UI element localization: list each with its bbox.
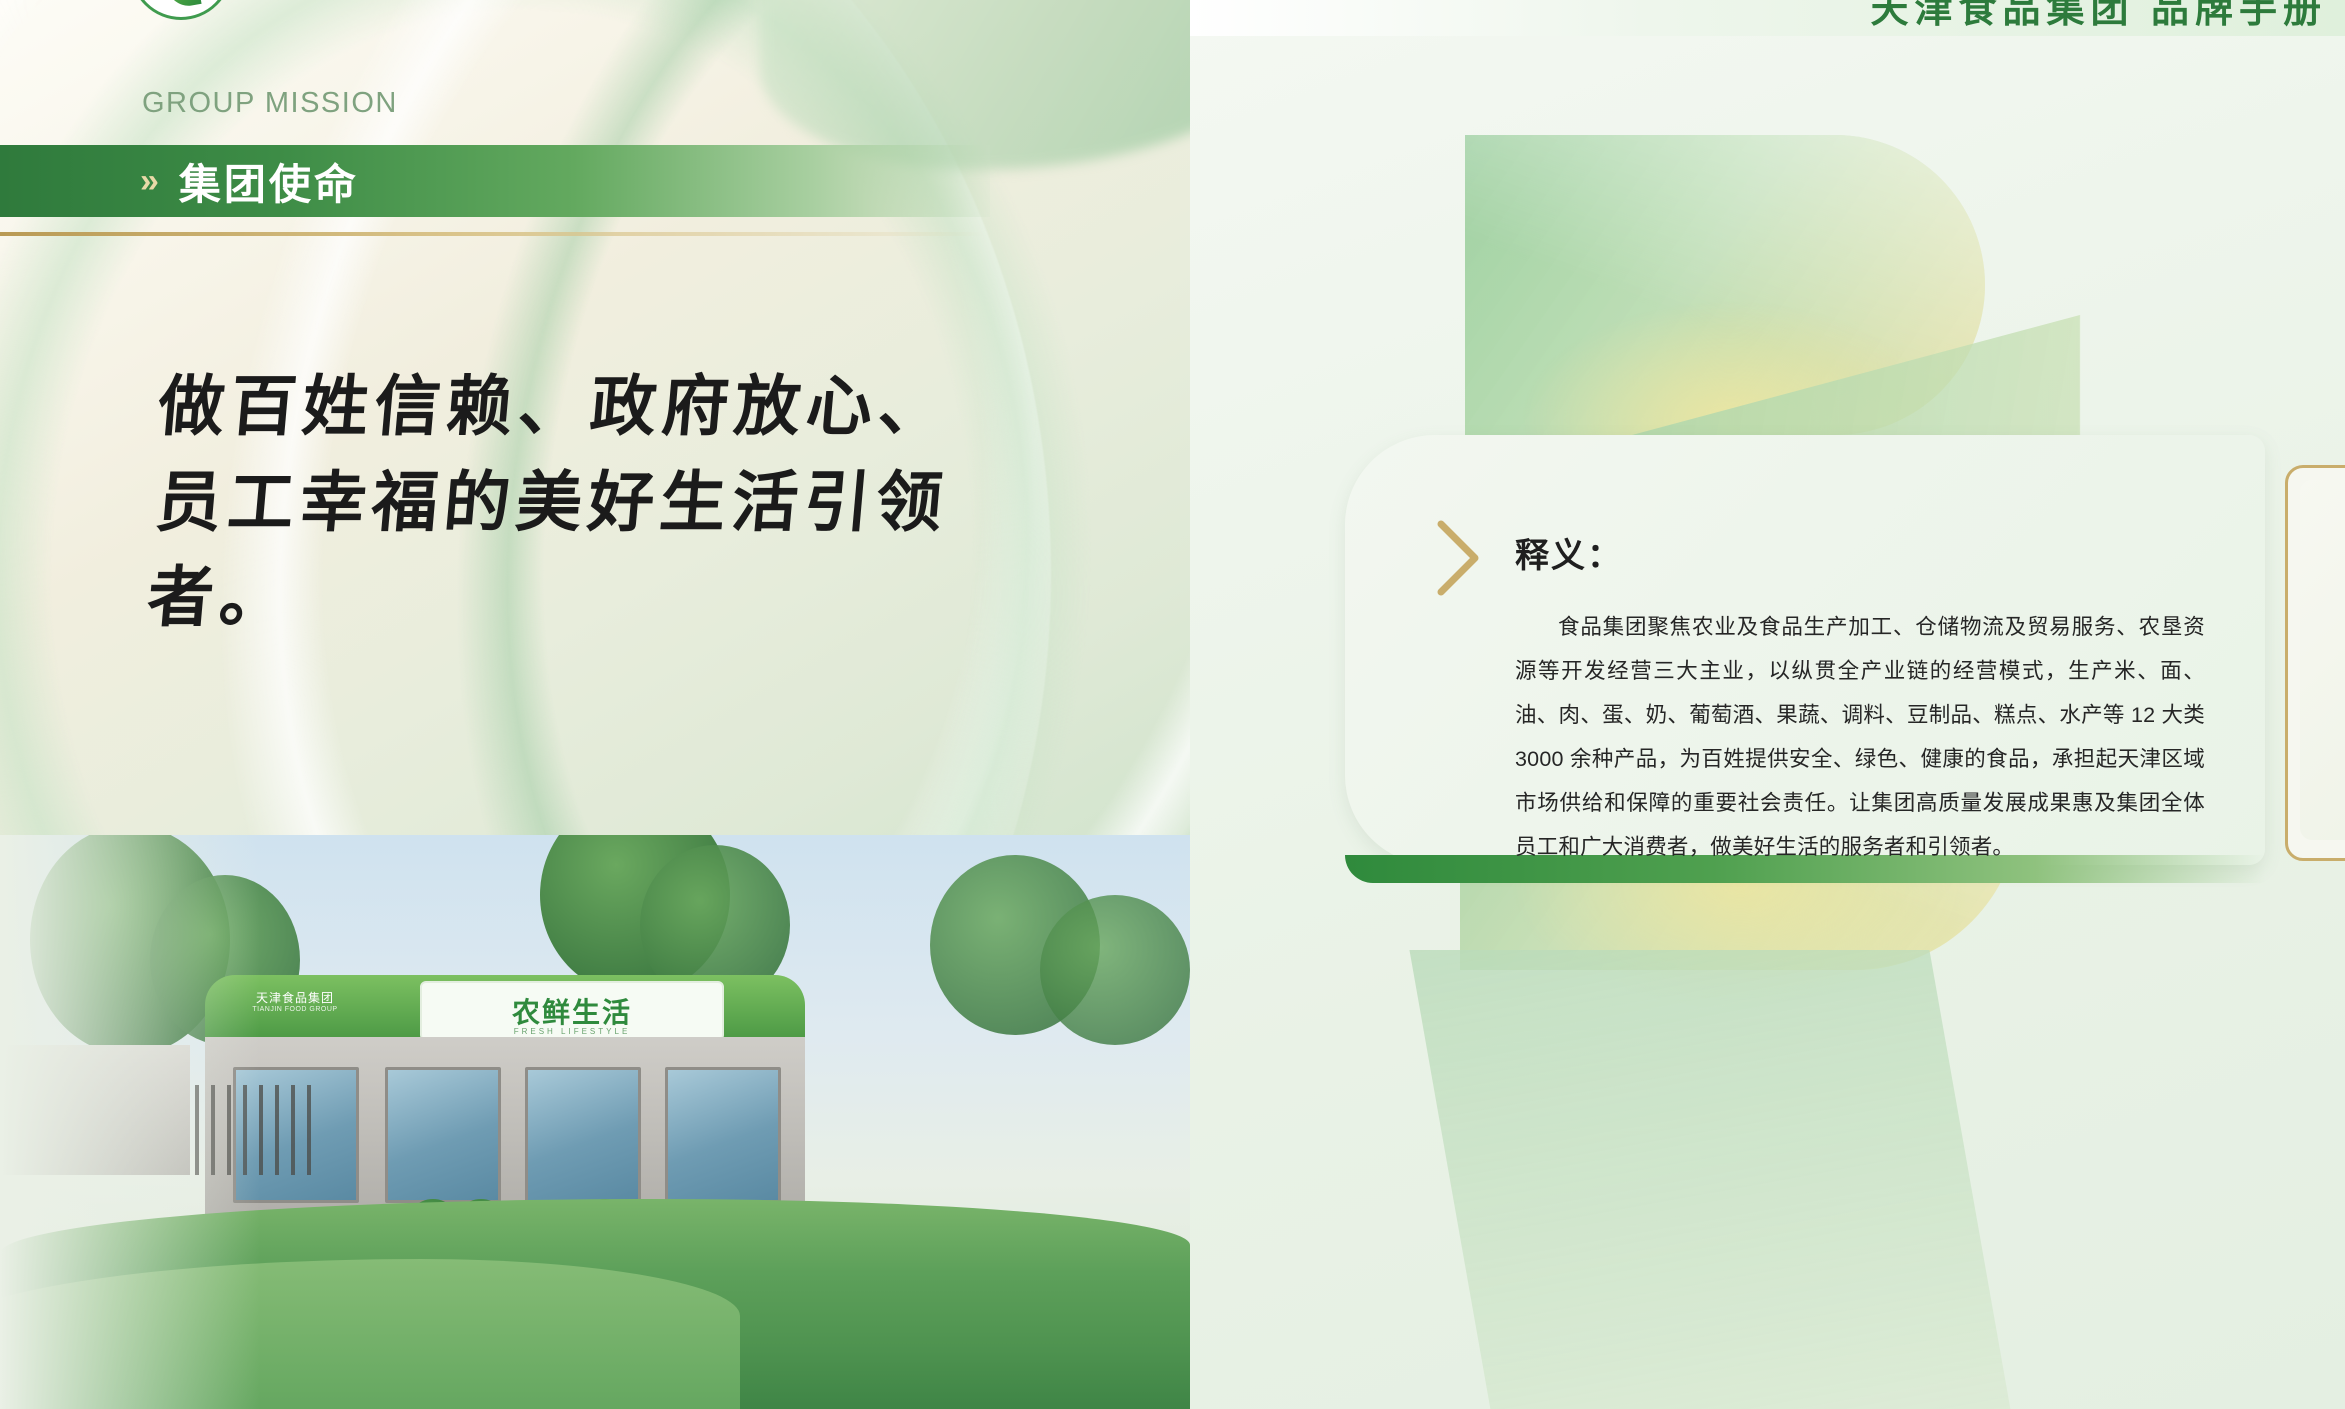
- brochure-header-text: 天津食品集团 品牌手册: [1870, 0, 2327, 33]
- store-window: [385, 1067, 501, 1203]
- store-window: [525, 1067, 641, 1203]
- store-window: [665, 1067, 781, 1203]
- store-photograph: 天津食品集团 TIANJIN FOOD GROUP 农鲜生活 FRESH LIF…: [0, 835, 1190, 1409]
- double-chevron-right-icon: »: [140, 162, 153, 201]
- store-sign-en: FRESH LIFESTYLE: [514, 1027, 631, 1036]
- decorative-ribbon-tail: [1409, 950, 2010, 1409]
- mission-line-1: 做百姓信赖、政府放心、: [154, 360, 1032, 456]
- chevron-right-icon: [1435, 520, 1481, 596]
- mission-statement: 做百姓信赖、政府放心、 员工幸福的美好生活引领者。: [137, 360, 1032, 647]
- right-panel: 天津食品集团 品牌手册 释义： 食品集团聚焦农业及食品生产加工、仓储物流及贸易服…: [1190, 0, 2345, 1409]
- brochure-page: GROUP MISSION » 集团使命 做百姓信赖、政府放心、 员工幸福的美好…: [0, 0, 2345, 1409]
- left-panel: GROUP MISSION » 集团使命 做百姓信赖、政府放心、 员工幸福的美好…: [0, 0, 1190, 1409]
- page-title: 集团使命: [179, 151, 359, 212]
- company-logo-cn: 天津食品集团: [256, 991, 334, 1005]
- photo-left-fade: [0, 835, 260, 1409]
- section-title-bar: » 集团使命: [0, 145, 990, 217]
- tree-icon: [1040, 895, 1190, 1045]
- mission-line-2: 员工幸福的美好生活引领者。: [143, 456, 1024, 647]
- store-roof: 天津食品集团 TIANJIN FOOD GROUP 农鲜生活 FRESH LIF…: [205, 975, 805, 1037]
- store-sign-cn: 农鲜生活: [512, 991, 632, 1031]
- store-signboard: 农鲜生活 FRESH LIFESTYLE: [420, 981, 724, 1041]
- definition-body: 食品集团聚焦农业及食品生产加工、仓储物流及贸易服务、农垦资源等开发经营三大主业，…: [1515, 605, 2205, 869]
- leaf-icon: [160, 0, 201, 10]
- definition-title: 释义：: [1515, 528, 1623, 577]
- gold-divider: [0, 232, 985, 236]
- section-eyebrow: GROUP MISSION: [142, 87, 398, 120]
- adjacent-gold-card-inner: [2300, 480, 2345, 840]
